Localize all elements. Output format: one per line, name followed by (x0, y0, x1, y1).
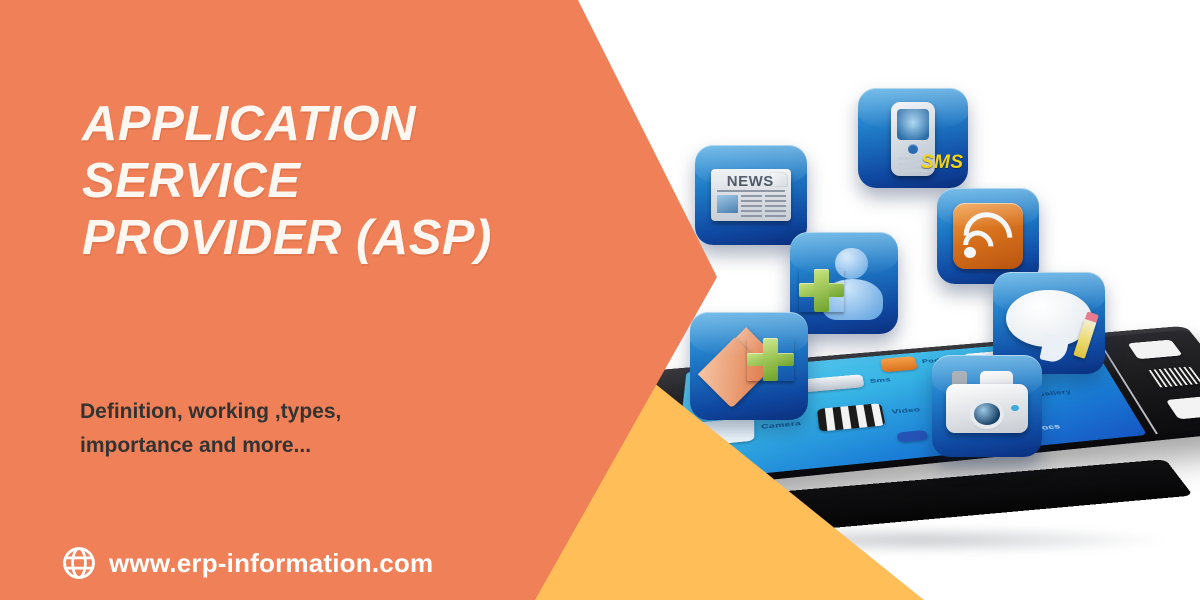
subtitle: Definition, working ,types, importance a… (80, 395, 510, 463)
subtitle-line-2: importance and more... (80, 429, 510, 463)
website-url-row[interactable]: www.erp-information.com (62, 546, 433, 580)
promo-banner: Chat Sms Mail Podcast Camera Video Galle… (0, 0, 1200, 600)
globe-icon (62, 546, 96, 580)
page-title: APPLICATION SERVICE PROVIDER (ASP) (82, 96, 582, 267)
website-url[interactable]: www.erp-information.com (109, 548, 433, 579)
headline-line-3: PROVIDER (ASP) (82, 210, 582, 267)
headline-line-1: APPLICATION (82, 96, 582, 153)
banner-content: APPLICATION SERVICE PROVIDER (ASP) Defin… (0, 0, 600, 600)
headline-line-2: SERVICE (82, 153, 582, 210)
subtitle-line-1: Definition, working ,types, (80, 395, 510, 429)
